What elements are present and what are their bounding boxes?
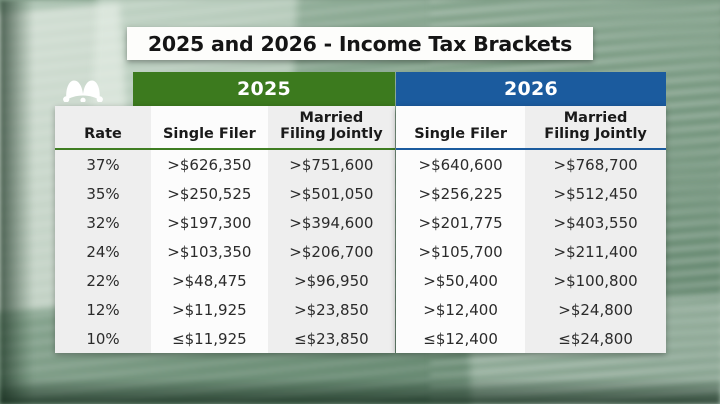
- column-header-married-filing-jointly: Married Filing Jointly: [525, 106, 666, 149]
- cell-married: >$512,450: [525, 179, 666, 208]
- cell-rate: 24%: [55, 237, 151, 266]
- cell-married: >$501,050: [268, 179, 395, 208]
- table-row: 22% >$48,475 >$96,950: [55, 266, 395, 295]
- column-header-rate: Rate: [55, 106, 151, 149]
- table-row: 24% >$103,350 >$206,700: [55, 237, 395, 266]
- cell-single: ≤$11,925: [151, 324, 268, 353]
- table-header-row: Rate Single Filer Married Filing Jointly: [55, 106, 395, 149]
- screenshot-root: 2025 and 2026 - Income Tax Brackets 2025…: [0, 0, 720, 404]
- cell-married: >$206,700: [268, 237, 395, 266]
- cell-single: >$640,600: [396, 149, 525, 179]
- cell-single: >$256,225: [396, 179, 525, 208]
- bracket-table-2026: Single Filer Married Filing Jointly >$64…: [396, 106, 666, 353]
- year-header-2026: 2026: [396, 72, 666, 106]
- bracket-table-2025: Rate Single Filer Married Filing Jointly…: [55, 106, 395, 353]
- page-title: 2025 and 2026 - Income Tax Brackets: [148, 32, 572, 56]
- cell-married: >$24,800: [525, 295, 666, 324]
- cell-single: >$626,350: [151, 149, 268, 179]
- table-row: 35% >$250,525 >$501,050: [55, 179, 395, 208]
- cell-married: >$96,950: [268, 266, 395, 295]
- cell-married: >$768,700: [525, 149, 666, 179]
- table-row: ≤$12,400 ≤$24,800: [396, 324, 666, 353]
- cell-rate: 32%: [55, 208, 151, 237]
- table-row: >$256,225 >$512,450: [396, 179, 666, 208]
- background-vignette-bottom: [0, 378, 720, 404]
- cell-single: >$11,925: [151, 295, 268, 324]
- column-header-married-filing-jointly: Married Filing Jointly: [268, 106, 395, 149]
- cell-rate: 12%: [55, 295, 151, 324]
- year-header-2025: 2025: [133, 72, 395, 106]
- cell-married: ≤$24,800: [525, 324, 666, 353]
- table-row: >$640,600 >$768,700: [396, 149, 666, 179]
- cell-rate: 37%: [55, 149, 151, 179]
- table-row: >$105,700 >$211,400: [396, 237, 666, 266]
- table-row: 37% >$626,350 >$751,600: [55, 149, 395, 179]
- cell-single: >$50,400: [396, 266, 525, 295]
- title-banner: 2025 and 2026 - Income Tax Brackets: [127, 27, 593, 60]
- background-vignette-left: [0, 0, 34, 404]
- table-row: 32% >$197,300 >$394,600: [55, 208, 395, 237]
- cell-married: >$23,850: [268, 295, 395, 324]
- cell-single: >$105,700: [396, 237, 525, 266]
- tax-table-2026: 2026 Single Filer Married Filing Jointly…: [396, 72, 666, 353]
- tax-table-2025: 2025 Rate Single Filer Married Filing Jo…: [55, 72, 395, 353]
- cell-single: >$201,775: [396, 208, 525, 237]
- column-header-single-filer: Single Filer: [151, 106, 268, 149]
- table-row: >$12,400 >$24,800: [396, 295, 666, 324]
- column-header-single-filer: Single Filer: [396, 106, 525, 149]
- table-header-row: Single Filer Married Filing Jointly: [396, 106, 666, 149]
- cell-married: >$100,800: [525, 266, 666, 295]
- table-row: >$201,775 >$403,550: [396, 208, 666, 237]
- cell-married: >$211,400: [525, 237, 666, 266]
- cell-married: >$403,550: [525, 208, 666, 237]
- cell-single: >$103,350: [151, 237, 268, 266]
- table-row: 12% >$11,925 >$23,850: [55, 295, 395, 324]
- cell-rate: 10%: [55, 324, 151, 353]
- cell-married: >$394,600: [268, 208, 395, 237]
- cell-single: >$250,525: [151, 179, 268, 208]
- cell-married: >$751,600: [268, 149, 395, 179]
- cell-married: ≤$23,850: [268, 324, 395, 353]
- cell-single: >$12,400: [396, 295, 525, 324]
- cell-single: >$48,475: [151, 266, 268, 295]
- cell-single: >$197,300: [151, 208, 268, 237]
- cell-rate: 35%: [55, 179, 151, 208]
- cell-rate: 22%: [55, 266, 151, 295]
- table-row: >$50,400 >$100,800: [396, 266, 666, 295]
- table-row: 10% ≤$11,925 ≤$23,850: [55, 324, 395, 353]
- cell-single: ≤$12,400: [396, 324, 525, 353]
